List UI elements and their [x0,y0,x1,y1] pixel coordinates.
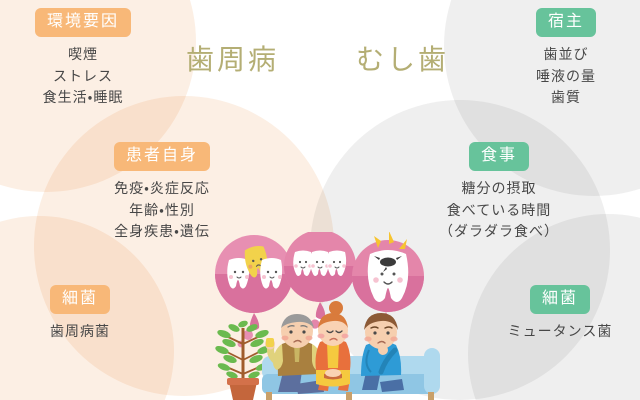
badge-environment: 環境要因 [35,8,131,37]
factor-list-bacteria-left: 歯周病菌 [10,321,150,343]
badge-host: 宿主 [536,8,596,37]
badge-bacteria-right: 細菌 [530,285,590,314]
factor-item: 糖分の摂取 [404,178,594,200]
factor-item: 食生活・睡眠 [10,87,156,109]
factor-block-bacteria-right: 細菌 ミュータンス菌 [482,285,638,343]
factor-item: 歯周病菌 [10,321,150,343]
factor-item: 食べている時間 [404,200,594,222]
factor-list-bacteria-right: ミュータンス菌 [482,321,638,343]
factor-block-environment: 環境要因 喫煙 ストレス 食生活・睡眠 [10,8,156,109]
factor-item: 年齢・性別 [68,200,256,222]
page-title-dental-caries: むし歯 [356,38,449,78]
page-title-periodontal-disease: 歯周病 [186,38,279,78]
factor-block-diet: 食事 糖分の摂取 食べている時間 （ダラダラ食べ） [404,142,594,243]
infographic-canvas: 歯周病 むし歯 環境要因 喫煙 ストレス 食生活・睡眠 患者自身 免疫・炎症反応… [0,0,640,400]
badge-bacteria-left: 細菌 [50,285,110,314]
factor-item: 歯質 [502,87,630,109]
factor-list-environment: 喫煙 ストレス 食生活・睡眠 [10,44,156,109]
factor-item: 免疫・炎症反応 [68,178,256,200]
factor-item: 唾液の量 [502,66,630,88]
badge-patient: 患者自身 [114,142,210,171]
factor-item: 喫煙 [10,44,156,66]
factor-block-bacteria-left: 細菌 歯周病菌 [10,285,150,343]
factor-item: ストレス [10,66,156,88]
illustration-people-with-tooth-worries [196,232,444,400]
factor-list-host: 歯並び 唾液の量 歯質 [502,44,630,109]
factor-block-patient: 患者自身 免疫・炎症反応 年齢・性別 全身疾患・遺伝 [68,142,256,243]
factor-item: ミュータンス菌 [482,321,638,343]
factor-item: 歯並び [502,44,630,66]
factor-block-host: 宿主 歯並び 唾液の量 歯質 [502,8,630,109]
badge-diet: 食事 [469,142,529,171]
